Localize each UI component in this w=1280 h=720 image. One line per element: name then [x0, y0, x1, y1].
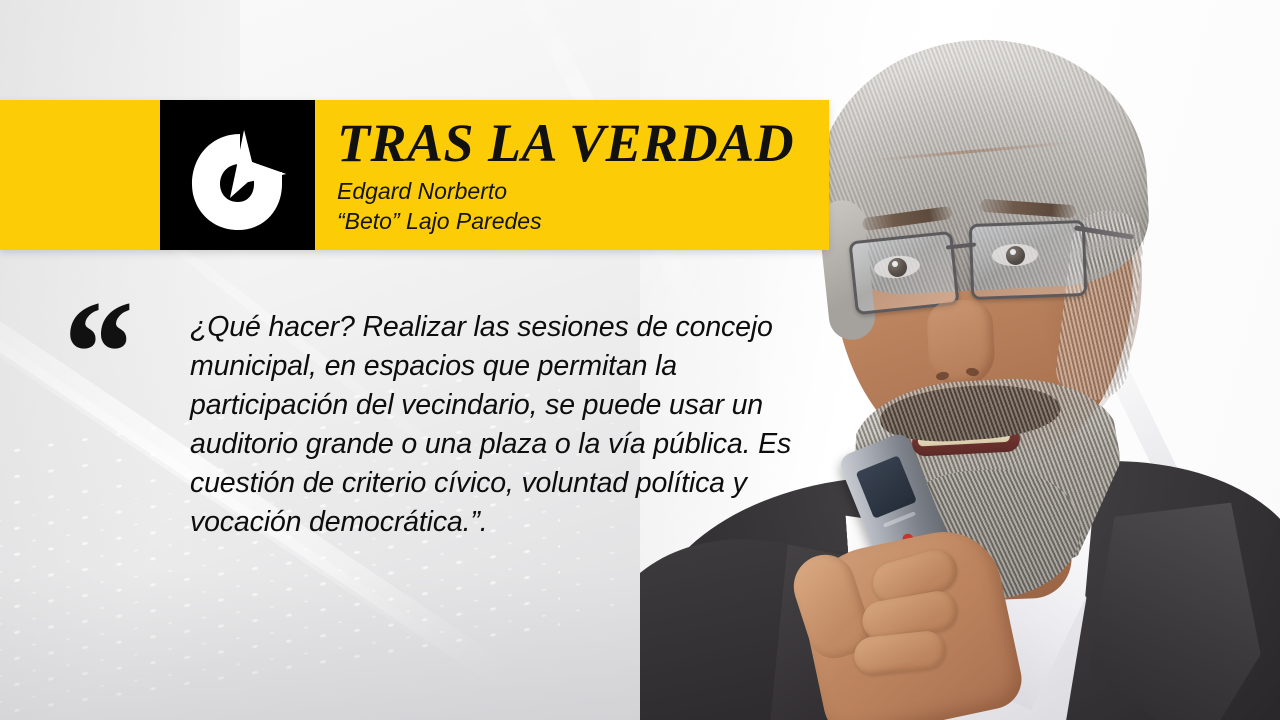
news-quote-graphic: TRAS LA VERDAD Edgard Norberto “Beto” La…: [0, 0, 1280, 720]
banner-text-block: TRAS LA VERDAD Edgard Norberto “Beto” La…: [337, 114, 807, 236]
arrow-circle-logo-icon: [182, 116, 294, 234]
author-name-line1: Edgard Norberto: [337, 176, 807, 206]
program-banner: TRAS LA VERDAD Edgard Norberto “Beto” La…: [0, 100, 829, 250]
author-byline: Edgard Norberto “Beto” Lajo Paredes: [337, 176, 807, 236]
recorder-detail-line: [883, 511, 916, 527]
program-title: TRAS LA VERDAD: [337, 114, 807, 172]
recorder-screen: [856, 455, 917, 519]
author-name-line2: “Beto” Lajo Paredes: [337, 206, 807, 236]
logo-container: [160, 100, 315, 250]
eyeglass-lens-right: [969, 220, 1088, 300]
open-quote-icon: “: [56, 278, 125, 428]
quote-text: ¿Qué hacer? Realizar las sesiones de con…: [190, 308, 830, 542]
